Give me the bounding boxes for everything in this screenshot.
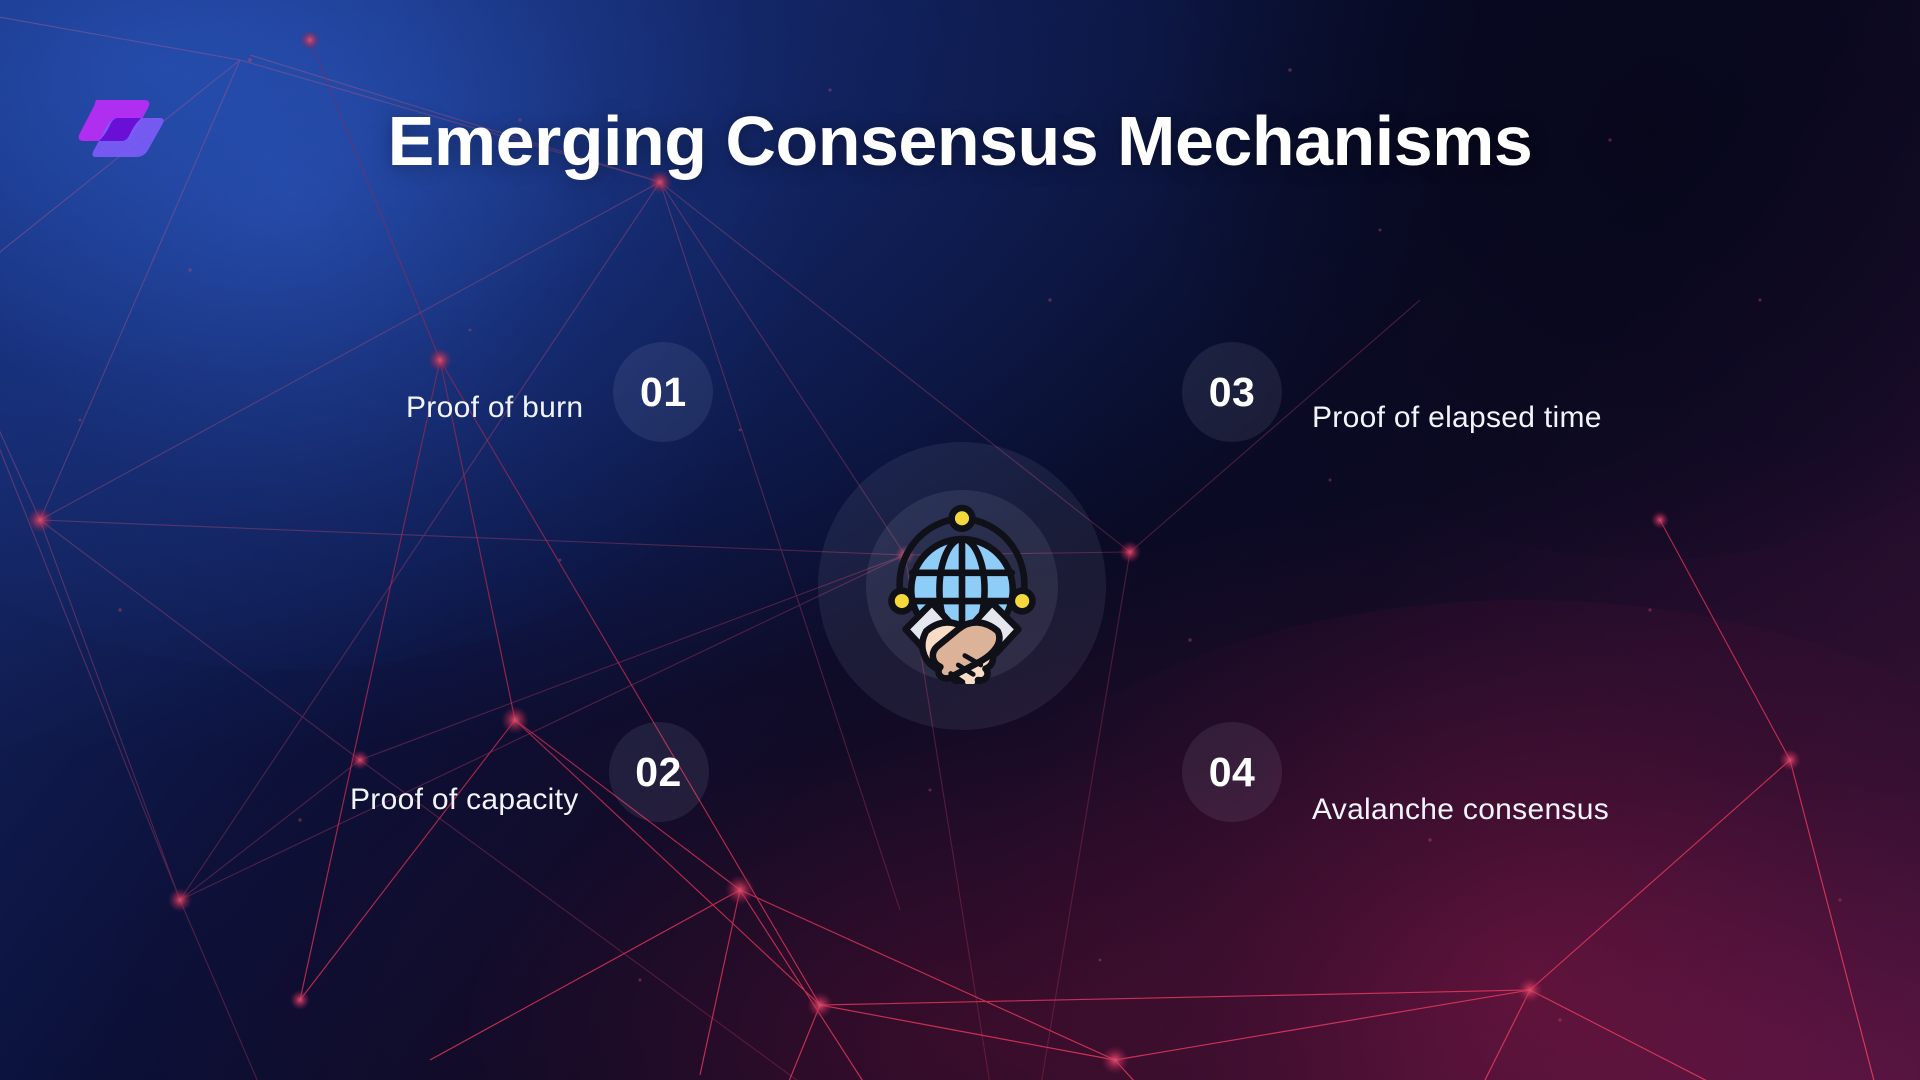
item-number-01: 01 — [640, 369, 687, 416]
item-number-badge-01: 01 — [613, 342, 713, 442]
list-item-02[interactable]: Proof of capacity 02 — [350, 722, 709, 822]
item-number-badge-02: 02 — [609, 722, 709, 822]
item-label-02: Proof of capacity — [350, 783, 579, 817]
item-number-02: 02 — [635, 749, 682, 796]
item-label-04: Avalanche consensus — [1312, 793, 1609, 827]
item-number-badge-03: 03 — [1182, 342, 1282, 442]
item-number-badge-04: 04 — [1182, 722, 1282, 822]
list-item-01[interactable]: Proof of burn 01 — [406, 342, 713, 442]
slide-canvas: Emerging Consensus Mechanisms Proof of b… — [0, 0, 1920, 1080]
item-label-03: Proof of elapsed time — [1312, 401, 1602, 435]
list-item-04[interactable]: 04 Avalanche consensus — [1182, 722, 1609, 822]
item-number-04: 04 — [1209, 749, 1256, 796]
center-icon-container — [818, 442, 1106, 730]
item-label-01: Proof of burn — [406, 391, 583, 425]
background-glow-dark — [1150, 0, 1920, 560]
list-item-03[interactable]: 03 Proof of elapsed time — [1182, 342, 1602, 442]
global-handshake-icon — [868, 488, 1056, 684]
item-number-03: 03 — [1209, 369, 1256, 416]
page-title: Emerging Consensus Mechanisms — [0, 104, 1920, 180]
